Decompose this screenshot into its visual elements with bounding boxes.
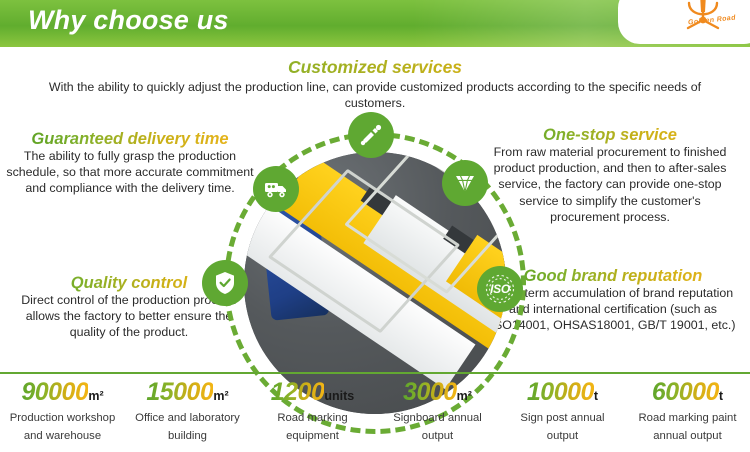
- stat-label: Signboard annual output: [393, 412, 482, 442]
- diamond-icon: [442, 160, 488, 206]
- stat-item: 90000m² Production workshop and warehous…: [0, 380, 125, 444]
- iso-badge-icon: ISO: [477, 266, 523, 312]
- stat-number: 1200: [271, 378, 325, 406]
- why-choose-us-infographic: Why choose us Golden Road Customized ser…: [0, 0, 750, 452]
- stat-item: 15000m² Office and laboratory building: [125, 380, 250, 444]
- stat-label: Road marking equipment: [277, 412, 347, 442]
- stat-item: 3000m² Signboard annual output: [375, 380, 500, 444]
- feature-title: Guaranteed delivery time: [4, 130, 256, 148]
- stat-item: 10000t Sign post annual output: [500, 380, 625, 444]
- stat-value: 15000m²: [129, 380, 246, 405]
- stat-unit: m²: [457, 389, 472, 403]
- page-header: Why choose us Golden Road: [0, 0, 750, 47]
- stat-label: Production workshop and warehouse: [10, 412, 116, 442]
- stat-item: 60000t Road marking paint annual output: [625, 380, 750, 444]
- stat-unit: t: [594, 389, 598, 403]
- stat-value: 1200units: [254, 380, 371, 405]
- stat-number: 3000: [403, 378, 457, 406]
- center-graphic: ISO: [244, 152, 506, 414]
- stat-label: Sign post annual output: [520, 412, 604, 442]
- stat-unit: m²: [213, 389, 228, 403]
- feature-body: With the ability to quickly adjust the p…: [40, 79, 710, 111]
- stat-label: Road marking paint annual output: [639, 412, 737, 442]
- stat-value: 90000m²: [4, 380, 121, 405]
- feature-guaranteed-delivery-time: Guaranteed delivery time The ability to …: [4, 130, 256, 197]
- stat-unit: m²: [88, 389, 103, 403]
- stat-number: 90000: [21, 378, 88, 406]
- stat-unit: units: [324, 389, 354, 403]
- stat-item: 1200units Road marking equipment: [250, 380, 375, 444]
- feature-customized-services: Customized services With the ability to …: [40, 58, 710, 112]
- stat-unit: t: [719, 389, 723, 403]
- feature-title: Customized services: [40, 58, 710, 77]
- page-title: Why choose us: [28, 5, 229, 36]
- feature-body: From raw material procurement to finishe…: [484, 144, 736, 225]
- shield-check-icon: [202, 260, 248, 306]
- stat-number: 15000: [146, 378, 213, 406]
- stat-value: 60000t: [629, 380, 746, 405]
- stat-value: 3000m²: [379, 380, 496, 405]
- stat-label: Office and laboratory building: [135, 412, 240, 442]
- feature-title: One-stop service: [484, 126, 736, 144]
- stat-value: 10000t: [504, 380, 621, 405]
- delivery-truck-icon: [253, 166, 299, 212]
- feature-one-stop-service: One-stop service From raw material procu…: [484, 126, 736, 225]
- logo-panel: Golden Road: [618, 0, 750, 44]
- stats-divider: [0, 372, 750, 374]
- feature-body: The ability to fully grasp the productio…: [4, 148, 256, 196]
- stats-bar: 90000m² Production workshop and warehous…: [0, 380, 750, 444]
- stat-number: 10000: [527, 378, 594, 406]
- pencil-icon: [348, 112, 394, 158]
- stat-number: 60000: [652, 378, 719, 406]
